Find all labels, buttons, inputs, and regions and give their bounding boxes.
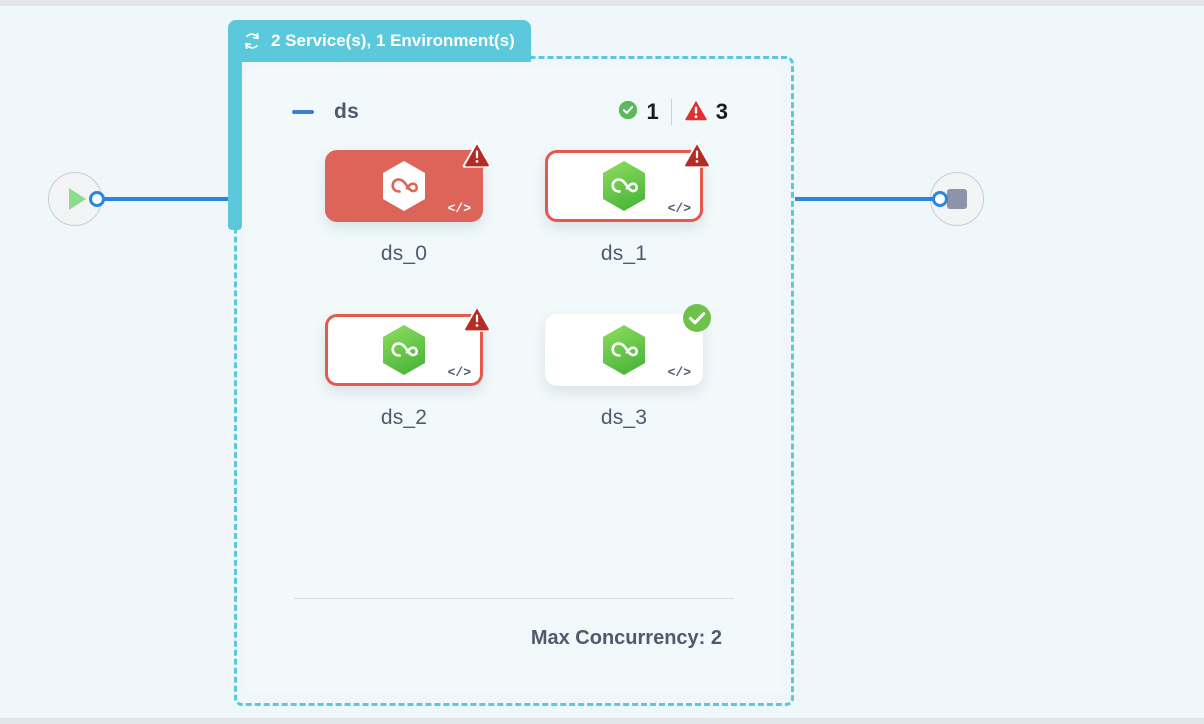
environment-group-tab[interactable]: 2 Service(s), 1 Environment(s) [228,20,531,62]
service-node-ds_1[interactable]: </> ds_1 [514,150,734,266]
connector-group-to-end [795,197,937,201]
code-snippet-icon: </> [668,366,691,379]
nodejs-hexagon-icon [381,160,427,212]
service-group-name: ds [334,100,359,124]
service-node-card[interactable]: </> [545,150,703,222]
play-icon [69,188,86,210]
connector-start-to-group [100,197,240,201]
status-success-count: 1 [647,99,659,125]
code-snippet-icon: </> [448,366,471,379]
environment-group-tab-label: 2 Service(s), 1 Environment(s) [271,31,515,51]
code-snippet-icon: </> [668,202,691,215]
sync-refresh-icon [242,31,262,51]
service-node-ds_0[interactable]: </> ds_0 [294,150,514,266]
max-concurrency-label: Max Concurrency: 2 [294,627,734,650]
minus-collapse-icon[interactable] [292,110,314,114]
service-group-status-counts: 1 3 [617,99,729,126]
service-node-label: ds_3 [601,406,647,430]
check-circle-icon [617,99,639,126]
service-node-label: ds_2 [381,406,427,430]
service-group-card: ds 1 [246,68,782,694]
service-group-header: ds 1 [276,94,752,130]
check-circle-icon [680,301,714,335]
window-chrome-bottom [0,718,1204,724]
service-node-card[interactable]: </> [325,150,483,222]
status-success: 1 [617,99,659,126]
service-node-label: ds_1 [601,242,647,266]
service-node-ds_2[interactable]: </> ds_2 [294,314,514,430]
warning-triangle-icon [460,301,494,335]
service-node-card[interactable]: </> [545,314,703,386]
status-warning-count: 3 [716,99,728,125]
service-node-ds_3[interactable]: </> ds_3 [514,314,734,430]
environment-group-rail [228,50,242,230]
warning-triangle-icon [460,137,494,171]
start-node-output-port[interactable] [89,191,105,207]
end-node-input-port[interactable] [932,191,948,207]
service-node-grid: </> ds_0 [276,150,752,430]
stop-icon [947,189,967,209]
nodejs-hexagon-icon [601,160,647,212]
status-warning: 3 [684,99,728,126]
warning-triangle-icon [680,137,714,171]
nodejs-hexagon-icon [381,324,427,376]
code-snippet-icon: </> [448,202,471,215]
footer-divider [294,598,734,599]
status-divider [671,99,672,125]
service-node-card[interactable]: </> [325,314,483,386]
flow-canvas[interactable]: 2 Service(s), 1 Environment(s) ds 1 [0,6,1204,718]
nodejs-hexagon-icon [601,324,647,376]
warning-triangle-icon [684,99,708,126]
service-group-footer: Max Concurrency: 2 [276,598,752,650]
service-node-label: ds_0 [381,242,427,266]
